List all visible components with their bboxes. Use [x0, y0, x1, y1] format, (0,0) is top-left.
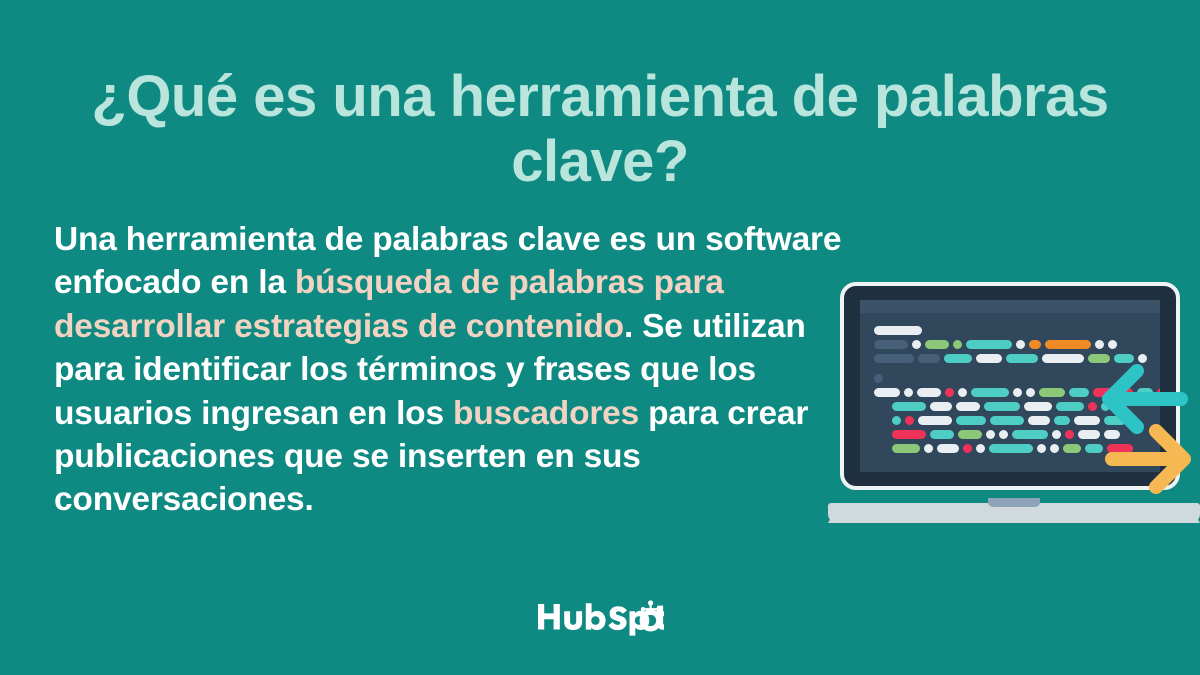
code-token [984, 402, 1020, 411]
code-token [999, 430, 1008, 439]
code-token [1052, 430, 1061, 439]
laptop-illustration [828, 282, 1200, 527]
code-token [1069, 388, 1089, 397]
code-token [874, 340, 908, 349]
code-token [1029, 340, 1041, 349]
code-token [1024, 402, 1052, 411]
code-token [874, 374, 883, 383]
code-token [1095, 340, 1104, 349]
code-token [912, 340, 921, 349]
hubspot-logo [0, 600, 1200, 641]
code-token [1063, 444, 1081, 453]
code-token [966, 340, 1012, 349]
code-token [990, 416, 1024, 425]
code-token [1065, 430, 1074, 439]
laptop-hinge-notch [988, 498, 1040, 507]
code-token [905, 416, 914, 425]
code-token [956, 416, 986, 425]
code-token [892, 444, 920, 453]
code-line [874, 326, 1156, 335]
code-token [945, 388, 954, 397]
code-token [892, 430, 926, 439]
code-token [930, 430, 954, 439]
code-token [1045, 340, 1091, 349]
code-token [917, 388, 941, 397]
code-token [1012, 430, 1048, 439]
code-token [956, 402, 980, 411]
code-token [937, 444, 959, 453]
code-token [874, 354, 914, 363]
code-token [944, 354, 972, 363]
code-token [953, 340, 962, 349]
code-line [874, 340, 1156, 349]
code-token [1085, 444, 1103, 453]
code-token [1042, 354, 1084, 363]
code-token [892, 416, 901, 425]
code-token [924, 444, 933, 453]
code-token [986, 430, 995, 439]
code-token [971, 388, 1009, 397]
body-paragraph: Una herramienta de palabras clave es un … [54, 218, 844, 522]
code-token [963, 444, 972, 453]
code-token [1054, 416, 1070, 425]
code-token [874, 326, 922, 335]
arrow-right-icon [1105, 420, 1200, 503]
page-title: ¿Qué es una herramienta de palabras clav… [0, 65, 1200, 195]
code-token [1039, 388, 1065, 397]
code-token [925, 340, 949, 349]
code-token [874, 388, 900, 397]
code-token [918, 416, 952, 425]
code-token [989, 444, 1033, 453]
screen-titlebar [860, 300, 1160, 313]
code-token [1013, 388, 1022, 397]
code-token [918, 354, 940, 363]
code-token [1056, 402, 1084, 411]
code-token [976, 354, 1002, 363]
code-token [892, 402, 926, 411]
code-token [904, 388, 913, 397]
code-token [930, 402, 952, 411]
code-token [1037, 444, 1046, 453]
code-token [958, 430, 982, 439]
body-highlight-span: buscadores [453, 395, 639, 432]
code-token [1006, 354, 1038, 363]
code-token [1026, 388, 1035, 397]
code-token [958, 388, 967, 397]
code-token [1028, 416, 1050, 425]
infographic-slide: ¿Qué es una herramienta de palabras clav… [0, 0, 1200, 675]
code-token [976, 444, 985, 453]
code-token [1050, 444, 1059, 453]
code-token [1016, 340, 1025, 349]
code-token [1108, 340, 1117, 349]
